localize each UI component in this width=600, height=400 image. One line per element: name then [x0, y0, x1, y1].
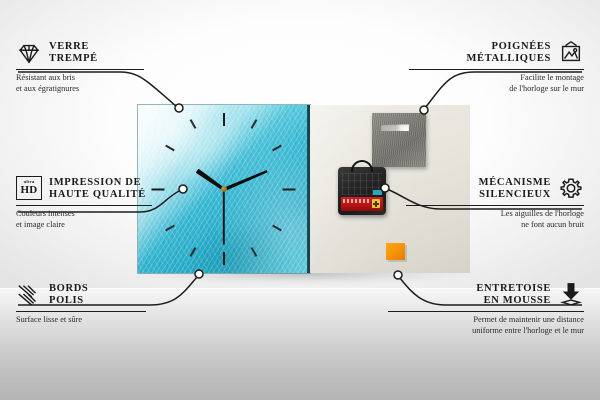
clock-center-cap — [221, 186, 227, 192]
callout-rule — [409, 69, 584, 70]
clock-tick-7 — [190, 247, 197, 257]
callout-rule — [406, 205, 584, 206]
callout-subtitle: Facilite le montagede l'horloge sur le m… — [409, 73, 584, 94]
clock-tick-2 — [272, 145, 282, 152]
clock-tick-1 — [251, 119, 258, 129]
mechanism-battery — [341, 197, 383, 211]
callout-title: MÉCANISMESILENCIEUX — [479, 177, 551, 202]
callout-entretoise-en-mousse[interactable]: ENTRETOISEEN MOUSSE Permet de maintenir … — [388, 282, 584, 336]
foam-spacer — [386, 243, 405, 260]
callout-title: ENTRETOISEEN MOUSSE — [476, 283, 551, 308]
callout-subtitle: Permet de maintenir une distanceuniforme… — [388, 315, 584, 336]
callout-rule — [388, 311, 584, 312]
callout-header: ultra HD IMPRESSION DEHAUTE QUALITÉ — [16, 176, 176, 202]
clock-minute-hand — [223, 168, 268, 191]
clock-second-hand — [223, 189, 225, 245]
callout-rule — [16, 205, 152, 206]
ultra-hd-badge-icon: ultra HD — [16, 176, 42, 202]
callout-title: POIGNÉESMÉTALLIQUES — [466, 41, 551, 66]
clock-tick-6 — [223, 252, 225, 265]
hanging-picture-frame-icon — [558, 40, 584, 66]
callout-verre-trempe[interactable]: VERRETREMPÉ Résistant aux briset aux égr… — [16, 40, 166, 94]
foam-spacer-arrow-icon — [558, 282, 584, 308]
callout-header: BORDSPOLIS — [16, 282, 166, 308]
callout-header: MÉCANISMESILENCIEUX — [406, 176, 584, 202]
callout-rule — [16, 69, 144, 70]
battery-plus-icon — [372, 199, 380, 208]
callout-header: POIGNÉESMÉTALLIQUES — [409, 40, 584, 66]
clock-tick-4 — [272, 225, 282, 232]
callout-subtitle: Les aiguilles de l'horlogene font aucun … — [406, 209, 584, 230]
callout-mecanisme-silencieux[interactable]: MÉCANISMESILENCIEUX Les aiguilles de l'h… — [406, 176, 584, 230]
battery-label-lines — [343, 199, 371, 203]
clock-mechanism — [338, 167, 386, 215]
callout-impression-haute-qualite[interactable]: ultra HD IMPRESSION DEHAUTE QUALITÉ Surf… — [16, 176, 176, 230]
callout-rule — [16, 311, 146, 312]
callout-title: BORDSPOLIS — [49, 283, 88, 308]
polished-edge-lines-icon — [16, 282, 42, 308]
callout-title: IMPRESSION DEHAUTE QUALITÉ — [49, 177, 146, 202]
clock-tick-3 — [283, 189, 296, 191]
callout-title: VERRETREMPÉ — [49, 41, 98, 66]
diamond-icon — [16, 40, 42, 66]
callout-subtitle: Surface lisse et sûreCouleurs intenseset… — [16, 209, 176, 230]
metal-mounting-plate — [372, 113, 426, 167]
clock-tick-12 — [223, 113, 225, 126]
callout-poignees-metalliques[interactable]: POIGNÉESMÉTALLIQUES Facilite le montaged… — [409, 40, 584, 94]
clock-tick-11 — [190, 119, 197, 129]
callout-header: VERRETREMPÉ — [16, 40, 166, 66]
clock-tick-10 — [165, 145, 175, 152]
callout-subtitle: Résistant aux briset aux égratignures — [16, 73, 166, 94]
callout-subtitle: Surface lisse et sûre — [16, 315, 166, 326]
mounting-plate-slot — [381, 124, 409, 131]
mechanism-teal-mark — [373, 190, 382, 195]
clock-tick-5 — [251, 247, 258, 257]
gear-icon — [558, 176, 584, 202]
callout-header: ENTRETOISEEN MOUSSE — [388, 282, 584, 308]
hd-label: HD — [20, 185, 37, 196]
callout-bords-polis[interactable]: BORDSPOLIS Surface lisse et sûre — [16, 282, 166, 326]
